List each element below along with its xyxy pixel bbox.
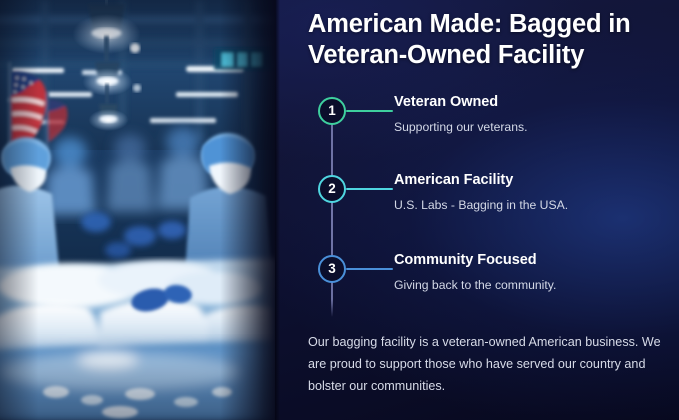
step-title-2: American Facility	[394, 171, 668, 190]
footnote-paragraph: Our bagging facility is a veteran-owned …	[308, 331, 664, 397]
timeline-step-2: 2 American Facility U.S. Labs - Bagging …	[308, 175, 668, 237]
step-title-1: Veteran Owned	[394, 93, 668, 112]
step-body-1: Veteran Owned Supporting our veterans.	[394, 93, 668, 135]
step-connector-3	[346, 268, 393, 270]
step-body-2: American Facility U.S. Labs - Bagging in…	[394, 171, 668, 213]
step-body-3: Community Focused Giving back to the com…	[394, 251, 668, 293]
step-connector-1	[346, 110, 393, 112]
step-number-badge-3: 3	[318, 255, 346, 283]
timeline-step-3: 3 Community Focused Giving back to the c…	[308, 255, 668, 317]
panel-left-edge-shadow	[275, 0, 280, 420]
timeline-step-1: 1 Veteran Owned Supporting our veterans.	[308, 97, 668, 159]
page-title: American Made: Bagged in Veteran-Owned F…	[308, 9, 660, 71]
infographic-root: American Made: Bagged in Veteran-Owned F…	[0, 0, 679, 420]
step-description-3: Giving back to the community.	[394, 277, 668, 293]
facility-photo	[0, 0, 275, 420]
content-panel: American Made: Bagged in Veteran-Owned F…	[275, 0, 679, 420]
factory-packing-line-photo	[0, 0, 275, 420]
step-description-1: Supporting our veterans.	[394, 119, 668, 135]
step-description-2: U.S. Labs - Bagging in the USA.	[394, 197, 668, 213]
timeline: 1 Veteran Owned Supporting our veterans.…	[308, 86, 668, 322]
step-connector-2	[346, 188, 393, 190]
step-title-3: Community Focused	[394, 251, 668, 270]
step-number-badge-2: 2	[318, 175, 346, 203]
step-number-badge-1: 1	[318, 97, 346, 125]
